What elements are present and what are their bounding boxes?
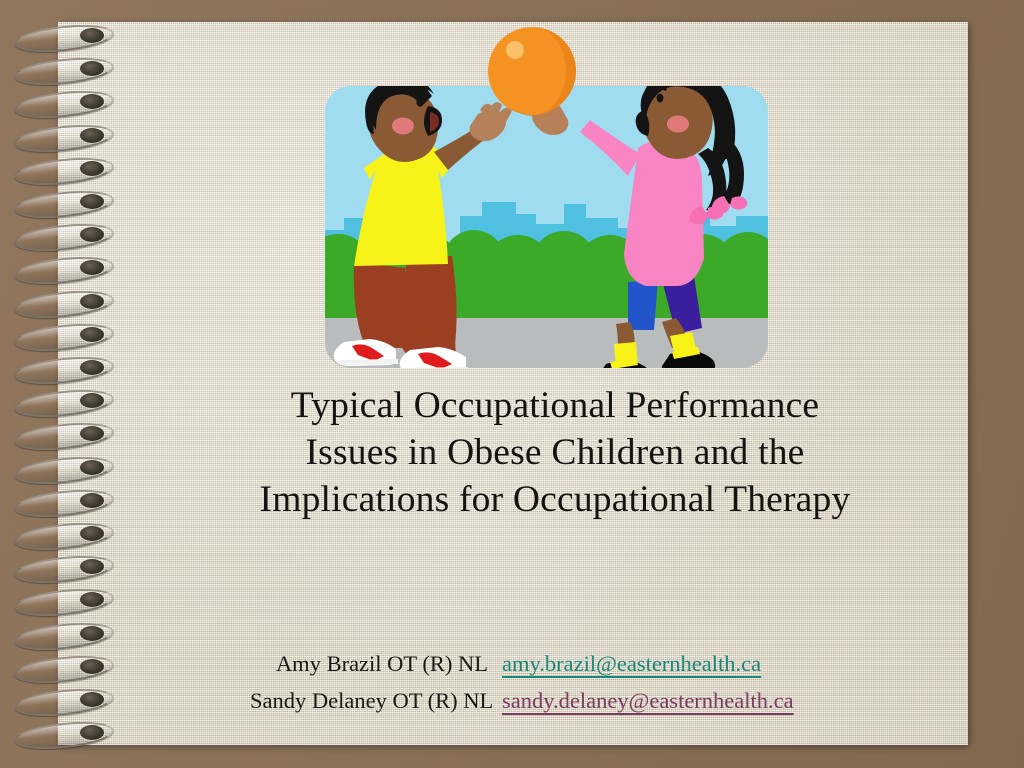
binding-hole [80, 460, 104, 475]
binding-hole [80, 659, 104, 674]
author-email-link-1[interactable]: amy.brazil@easternhealth.ca [502, 645, 761, 682]
slide-canvas: Typical Occupational Performance Issues … [0, 0, 1024, 768]
binding-hole [80, 294, 104, 309]
author-name-2: Sandy Delaney OT (R) NL [250, 682, 502, 719]
binding-hole [80, 493, 104, 508]
title-line-1: Typical Occupational Performance [150, 382, 960, 429]
binding-hole [80, 128, 104, 143]
binding-hole [80, 692, 104, 707]
binding-hole [80, 327, 104, 342]
author-block: Amy Brazil OT (R) NL amy.brazil@easternh… [250, 645, 890, 719]
binding-hole [80, 161, 104, 176]
author-row: Sandy Delaney OT (R) NL sandy.delaney@ea… [250, 682, 890, 719]
children-playing-ball-illustration [310, 18, 780, 378]
author-email-link-2[interactable]: sandy.delaney@easternhealth.ca [502, 682, 794, 719]
author-row: Amy Brazil OT (R) NL amy.brazil@easternh… [250, 645, 890, 682]
title-line-2: Issues in Obese Children and the [150, 429, 960, 476]
title-line-3: Implications for Occupational Therapy [150, 476, 960, 523]
author-name-1: Amy Brazil OT (R) NL [250, 645, 502, 682]
slide-title: Typical Occupational Performance Issues … [150, 382, 960, 523]
spiral-binding [0, 0, 150, 768]
binding-hole [80, 526, 104, 541]
binding-hole [80, 626, 104, 641]
binding-hole [80, 28, 104, 43]
binding-hole [80, 360, 104, 375]
binding-hole [80, 194, 104, 209]
